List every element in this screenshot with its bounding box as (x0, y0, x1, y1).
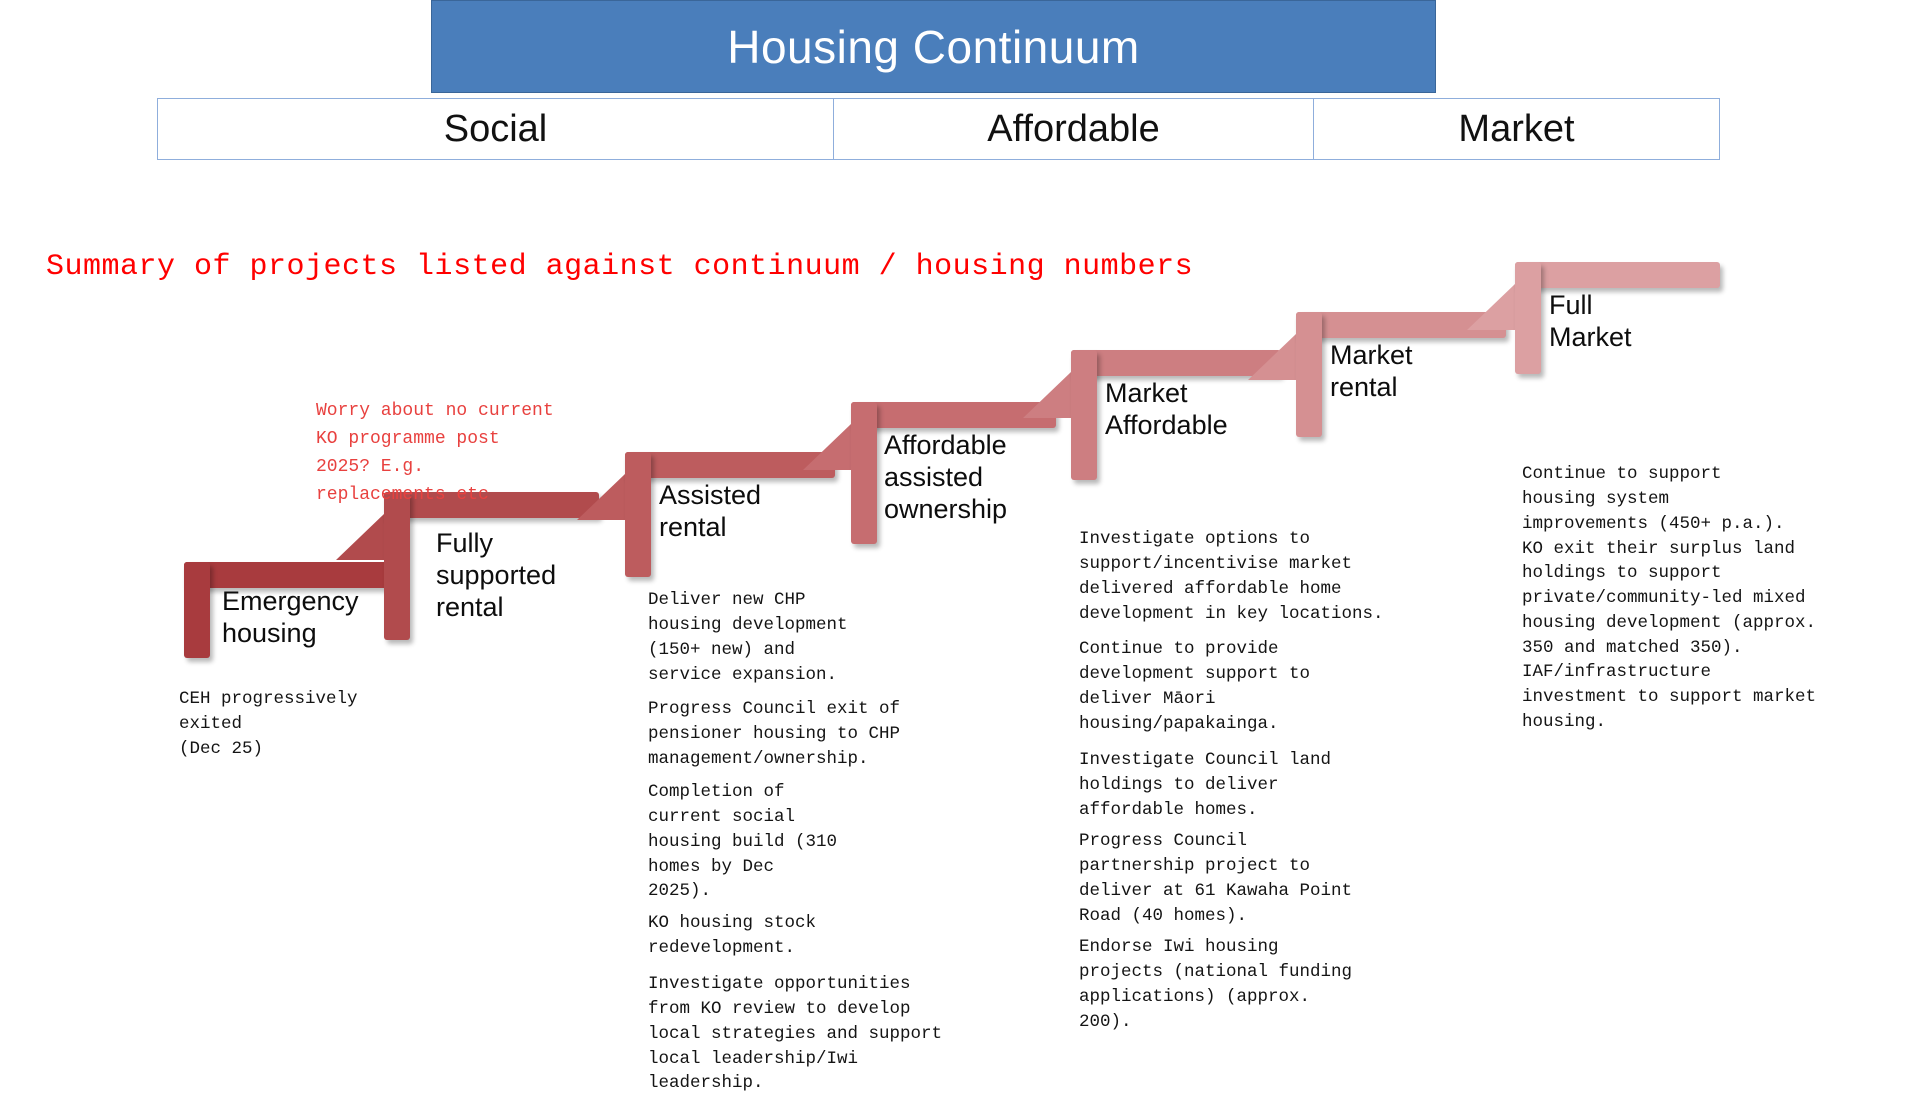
step-label-fully-supported-rental: Fully supported rental (436, 528, 636, 624)
note-market-affordable-0: Investigate options to support/incentivi… (1079, 527, 1444, 626)
summary-heading: Summary of projects listed against conti… (46, 250, 1193, 284)
note-market-affordable-1: Continue to provide development support … (1079, 637, 1429, 736)
step-bar-horizontal (1515, 262, 1720, 288)
note-assisted-rental-1: Progress Council exit of pensioner housi… (648, 697, 968, 772)
step-bar-horizontal (184, 562, 394, 588)
step-riser-icon (1248, 334, 1296, 380)
step-label-market-affordable: Market Affordable (1105, 378, 1315, 442)
step-riser-icon (1467, 284, 1515, 330)
step-bar-vertical (384, 492, 410, 640)
step-label-assisted-rental: Assisted rental (659, 480, 859, 544)
housing-continuum-banner: Housing Continuum (431, 0, 1436, 93)
step-bar-vertical (851, 402, 877, 544)
step-bar-vertical (1296, 312, 1322, 437)
page-title: Housing Continuum (727, 24, 1140, 70)
note-assisted-rental-3: KO housing stock redevelopment. (648, 911, 948, 961)
note-ko-programme-warning: Worry about no current KO programme post… (316, 398, 626, 510)
step-bar-vertical (184, 562, 210, 658)
continuum-cell-affordable-label: Affordable (987, 108, 1160, 151)
step-bar-vertical (1071, 350, 1097, 480)
step-label-affordable-assisted-ownership: Affordable assisted ownership (884, 430, 1094, 526)
note-market-affordable-3: Progress Council partnership project to … (1079, 829, 1439, 928)
note-assisted-rental-4: Investigate opportunities from KO review… (648, 972, 978, 1096)
note-full-market-1: IAF/infrastructure investment to support… (1522, 660, 1902, 735)
step-riser-icon (803, 424, 851, 470)
note-emergency-housing: CEH progressively exited (Dec 25) (179, 687, 429, 762)
continuum-band: Social Affordable Market (157, 98, 1720, 160)
note-assisted-rental-2: Completion of current social housing bui… (648, 780, 948, 904)
note-full-market-0: Continue to support housing system impro… (1522, 462, 1902, 661)
note-market-affordable-2: Investigate Council land holdings to del… (1079, 748, 1429, 823)
note-market-affordable-4: Endorse Iwi housing projects (national f… (1079, 935, 1429, 1034)
continuum-cell-social: Social (158, 99, 833, 159)
step-label-full-market: Full Market (1549, 290, 1749, 354)
step-riser-icon (336, 514, 384, 560)
continuum-cell-market-label: Market (1458, 108, 1574, 151)
step-label-market-rental: Market rental (1330, 340, 1530, 404)
continuum-cell-market: Market (1313, 99, 1719, 159)
step-bar-vertical (625, 452, 651, 577)
step-riser-icon (1023, 372, 1071, 418)
note-assisted-rental-0: Deliver new CHP housing development (150… (648, 588, 948, 687)
continuum-cell-social-label: Social (444, 108, 548, 151)
continuum-cell-affordable: Affordable (833, 99, 1313, 159)
step-bar-vertical (1515, 262, 1541, 374)
